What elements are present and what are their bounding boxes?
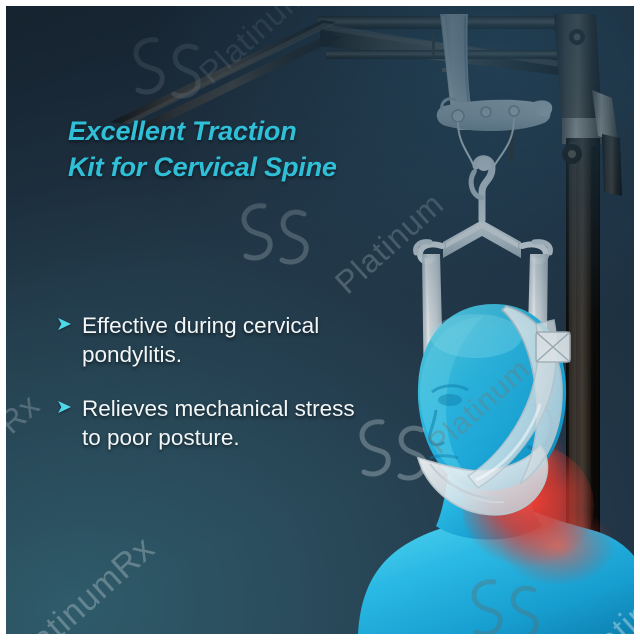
watermark-platinum-top: Platinum	[192, 6, 315, 91]
halter-buckle	[536, 332, 570, 362]
watermark-logo-icon	[228, 192, 314, 276]
watermark-platinum-head: Platinum	[422, 353, 537, 462]
spreader-hook-right	[522, 242, 550, 262]
watermark-platinum-mid: Platinum	[328, 185, 451, 301]
watermark-platin-right: Platin	[566, 593, 634, 634]
list-item-label: Effective during cervical pondylitis.	[82, 311, 434, 370]
list-item: ➤ Effective during cervical pondylitis.	[56, 311, 434, 370]
feature-list: ➤ Effective during cervical pondylitis. …	[56, 311, 434, 476]
background-plate: Platinum Platinum PlatinumRx Platin Rx P…	[6, 6, 634, 634]
arrow-bullet-icon: ➤	[56, 315, 82, 334]
watermark-logo-icon	[458, 568, 544, 634]
cervical-traction-head-halter	[418, 306, 570, 515]
watermark-rx-left: Rx	[6, 386, 47, 441]
swivel-hook	[471, 157, 492, 220]
spreader-hook-left	[416, 242, 442, 262]
list-item-label: Relieves mechanical stress to poor postu…	[82, 394, 434, 453]
traction-cord	[458, 118, 514, 172]
watermark-logo-icon	[120, 26, 206, 110]
frame-top-bars	[6, 16, 568, 76]
overhead-suspension-strap	[440, 14, 480, 130]
page-title: Excellent Traction Kit for Cervical Spin…	[68, 114, 337, 186]
halter-side-straps	[422, 254, 548, 406]
arrow-bullet-icon: ➤	[56, 398, 82, 417]
strap-ratchet-adjuster	[437, 99, 553, 131]
list-item: ➤ Relieves mechanical stress to poor pos…	[56, 394, 434, 453]
frame-hanger-pins	[432, 34, 513, 162]
watermark-platinumrx-bottom: PlatinumRx	[6, 529, 163, 634]
frame-vertical-pole	[554, 14, 622, 634]
spreader-bar	[416, 220, 551, 261]
promo-image-canvas: Platinum Platinum PlatinumRx Platin Rx P…	[0, 0, 640, 640]
